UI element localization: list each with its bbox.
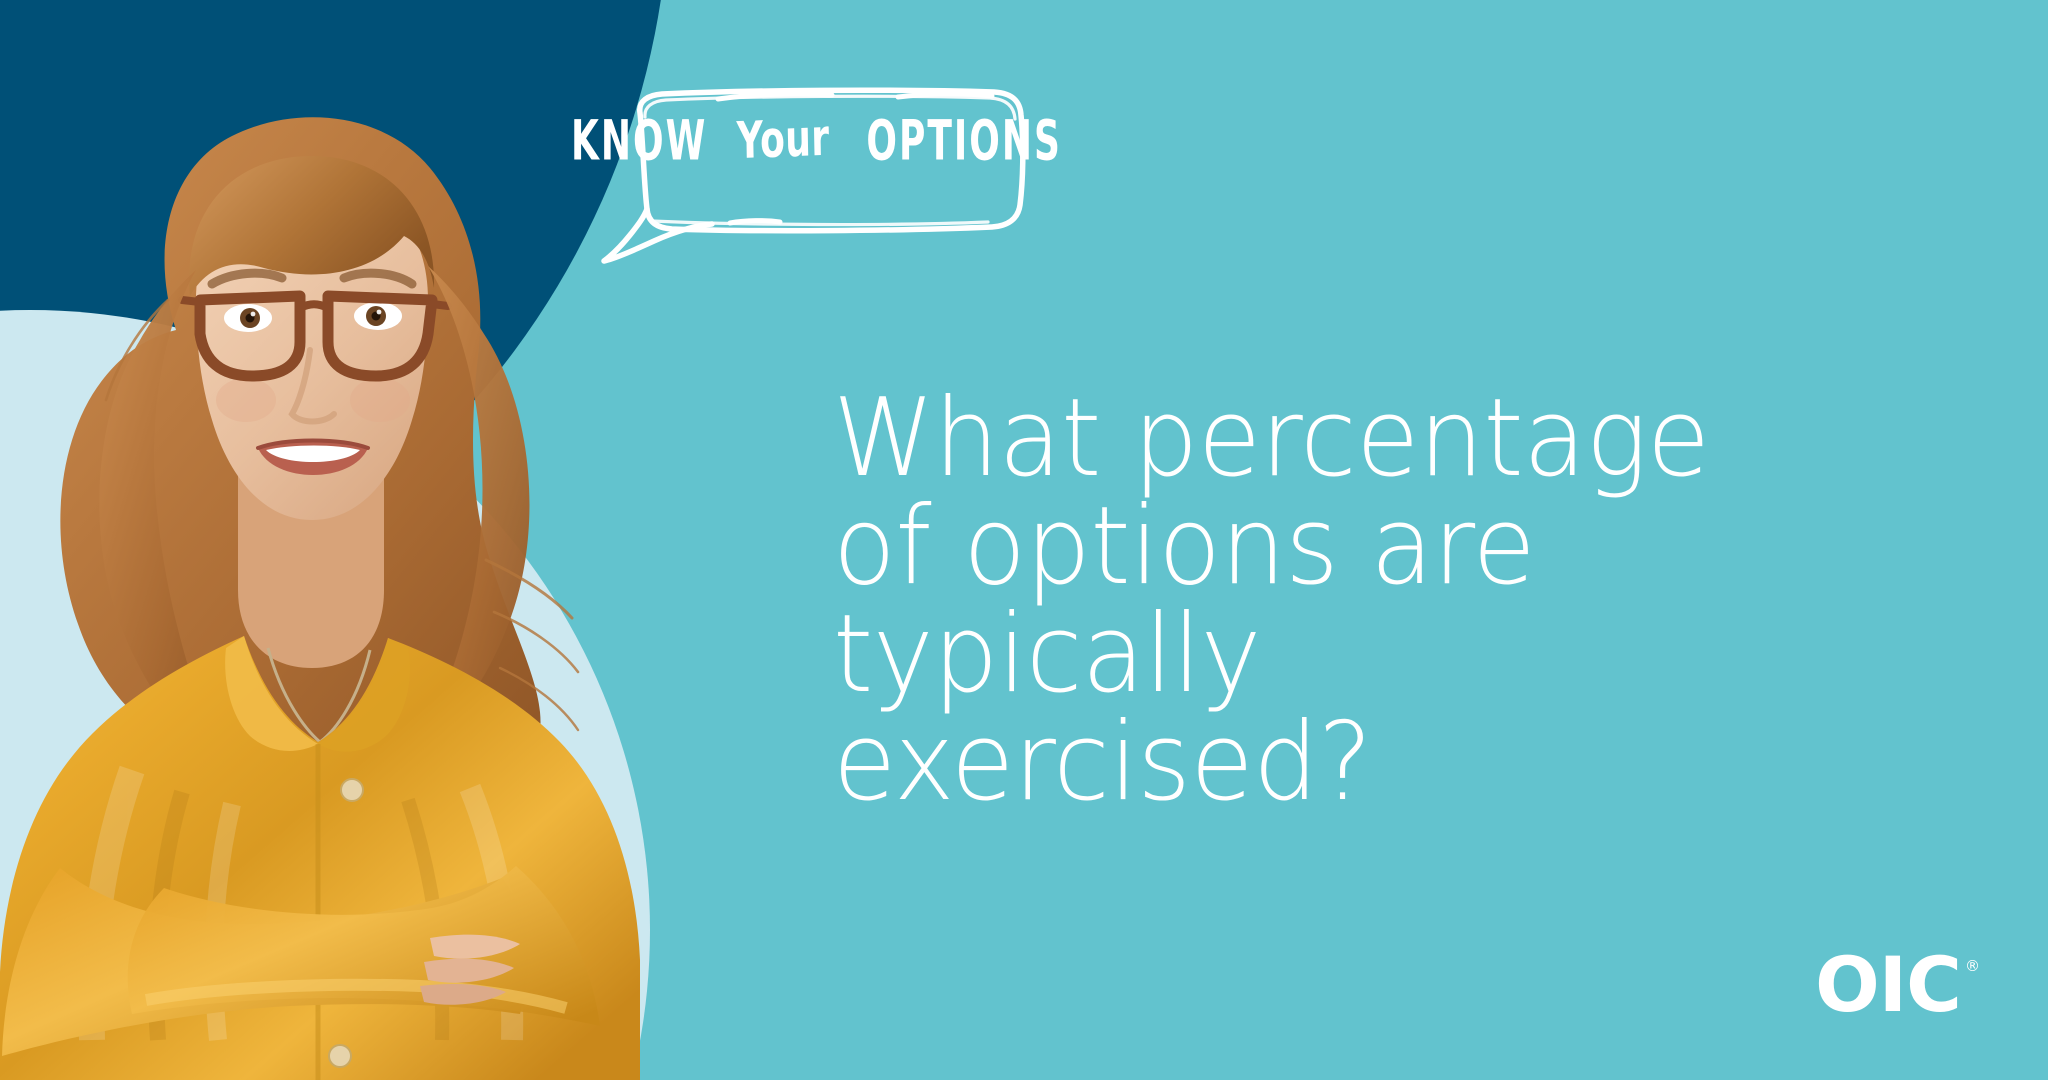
oic-logo: OIC ®	[1815, 953, 1980, 1018]
banner-root: KNOW Your OPTIONS What percentage of opt…	[0, 0, 2048, 1080]
speech-bubble-outline	[600, 75, 1040, 265]
headline-line-2: of options are	[833, 493, 1897, 601]
registered-trademark-icon: ®	[1965, 959, 1980, 974]
oic-wordmark: OIC	[1815, 953, 1961, 1018]
headline: What percentage of options are typically…	[833, 385, 1897, 817]
headline-line-1: What percentage	[833, 385, 1897, 493]
headline-line-4: exercised?	[833, 709, 1897, 817]
speech-bubble: KNOW Your OPTIONS	[600, 75, 1040, 265]
headline-line-3: typically	[833, 601, 1897, 709]
